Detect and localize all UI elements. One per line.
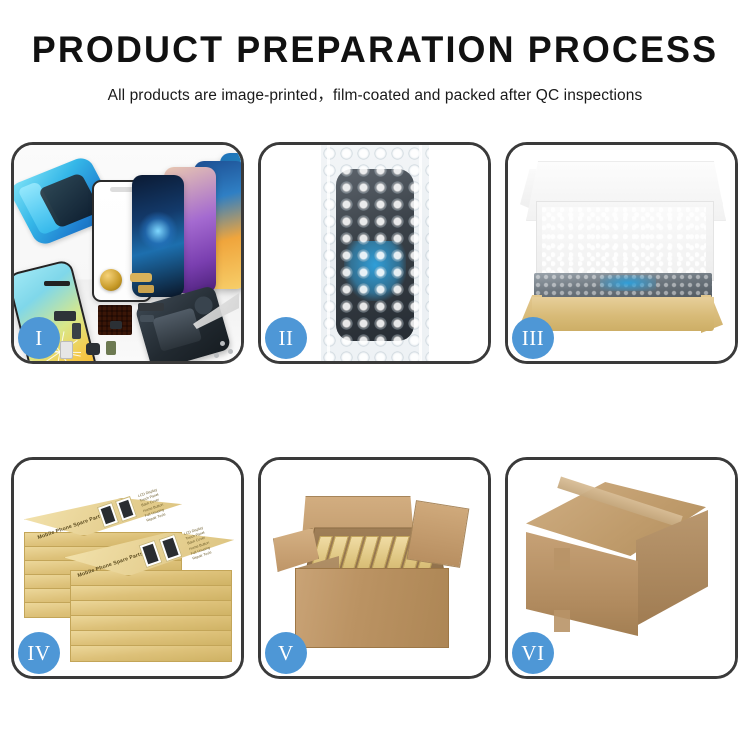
part-icon [138, 285, 154, 293]
speaker-coil-icon [100, 269, 122, 291]
screw-icon [228, 349, 233, 354]
part-icon [140, 315, 154, 322]
page-subtitle: All products are image-printed，film-coat… [0, 83, 750, 105]
part-icon [138, 303, 164, 311]
steps-grid: I II [11, 142, 739, 679]
screw-icon [214, 353, 219, 358]
page-title: PRODUCT PREPARATION PROCESS [11, 31, 739, 68]
part-icon [130, 273, 152, 282]
mailer-box-front-icon [532, 297, 714, 331]
part-icon [60, 341, 73, 359]
step-badge-2: II [265, 317, 307, 359]
part-icon [44, 281, 70, 286]
part-icon [106, 341, 116, 355]
product-preparation-infographic: PRODUCT PREPARATION PROCESS All products… [0, 0, 750, 750]
step-badge-4: IV [18, 632, 60, 674]
part-icon [86, 343, 100, 355]
screw-icon [220, 341, 225, 346]
step-panel-3: III [505, 142, 738, 364]
header: PRODUCT PREPARATION PROCESS All products… [0, 0, 750, 105]
part-icon [72, 323, 81, 339]
step-panel-1: I [11, 142, 244, 364]
bubble-texture-icon [321, 145, 429, 361]
step-badge-6: VI [512, 632, 554, 674]
box-checklist: LCD DisplayTouch PanelBack CoverHome But… [183, 525, 213, 561]
step-panel-4: Mobile Phone Spare Parts LCD DisplayTouc… [11, 457, 244, 679]
part-icon [110, 321, 122, 329]
packing-tape-icon [554, 610, 570, 632]
chip-array-icon [98, 305, 132, 335]
step-panel-2: II [258, 142, 491, 364]
step-badge-5: V [265, 632, 307, 674]
wrap-edge [419, 145, 422, 361]
carton-flap-right [407, 500, 470, 568]
retail-box [70, 645, 232, 662]
foam-liner-icon [542, 207, 706, 275]
step-panel-6: VI [505, 457, 738, 679]
box-checklist: LCD DisplayTouch PanelBack CoverHome But… [137, 487, 167, 523]
notch [110, 187, 134, 192]
step-panel-5: V [258, 457, 491, 679]
blue-film-highlight [600, 275, 656, 291]
step-badge-1: I [18, 317, 60, 359]
packing-tape-icon [554, 548, 570, 570]
step-badge-3: III [512, 317, 554, 359]
part-icon [54, 311, 76, 321]
wrap-edge [327, 145, 330, 361]
shipping-carton-icon [295, 568, 449, 648]
